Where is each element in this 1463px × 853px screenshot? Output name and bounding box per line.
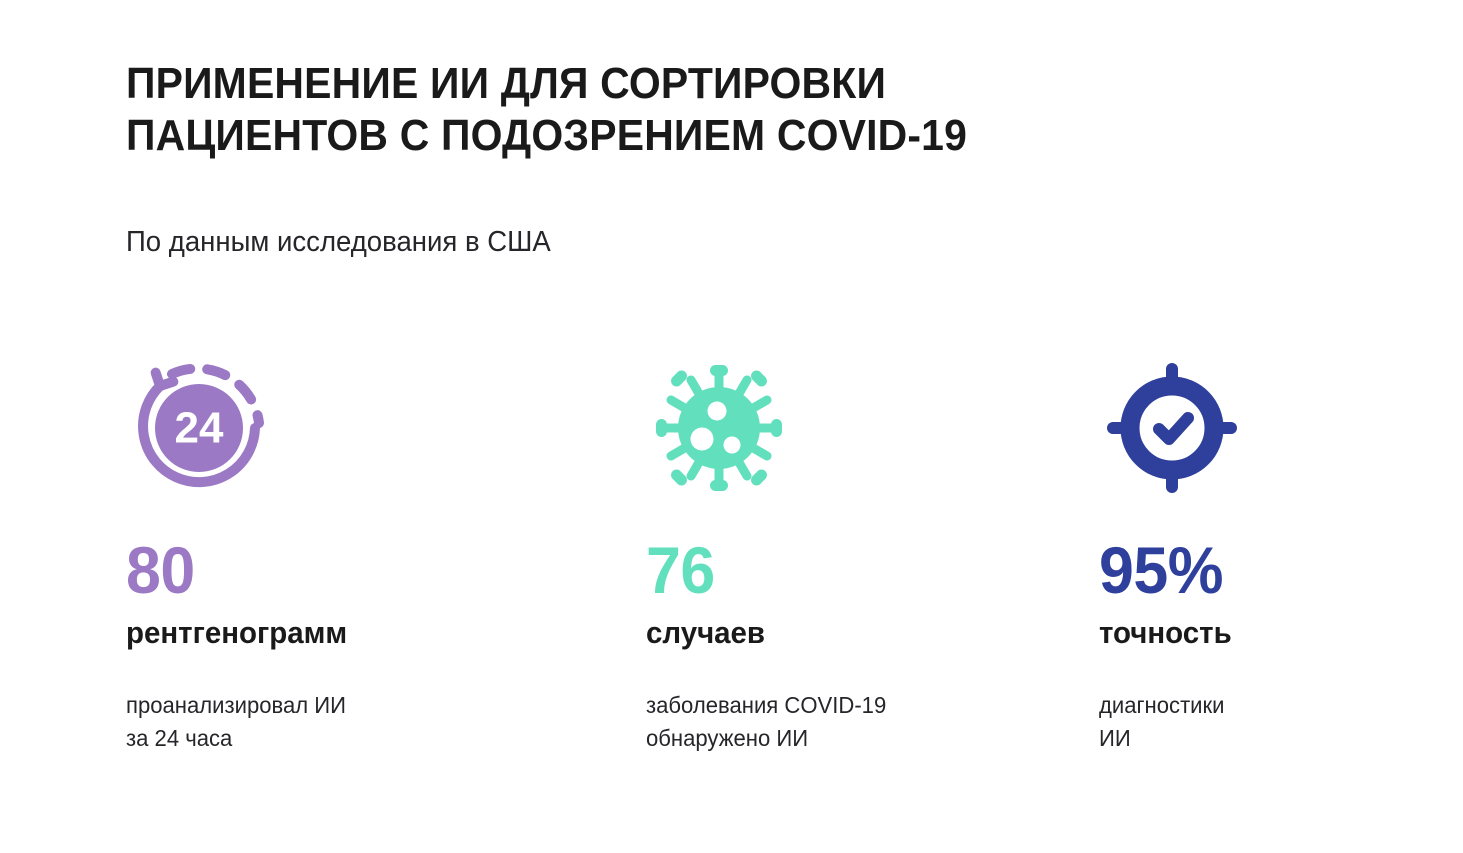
stats-row: 24 80 рентгенограмм проанализировал ИИ з…	[0, 355, 1463, 785]
page-subtitle: По данным исследования в США	[126, 224, 551, 260]
stat-caption: диагностики ИИ	[1099, 689, 1463, 755]
stat-card-cases: 76 случаев заболевания COVID-19 обнаруже…	[646, 355, 1066, 755]
stat-label: случаев	[646, 615, 1045, 651]
clock-24-hours-icon: 24	[126, 355, 546, 505]
stat-caption: заболевания COVID-19 обнаружено ИИ	[646, 689, 1049, 755]
target-check-icon	[1099, 355, 1463, 505]
infographic-canvas: ПРИМЕНЕНИЕ ИИ ДЛЯ СОРТИРОВКИ ПАЦИЕНТОВ С…	[0, 0, 1463, 853]
stat-card-accuracy: 95% точность диагностики ИИ	[1099, 355, 1463, 755]
stat-label: рентгенограмм	[126, 615, 525, 651]
stat-number: 76	[646, 537, 1045, 603]
page-title: ПРИМЕНЕНИЕ ИИ ДЛЯ СОРТИРОВКИ ПАЦИЕНТОВ С…	[126, 58, 1223, 162]
stat-caption: проанализировал ИИ за 24 часа	[126, 689, 529, 755]
virus-icon	[646, 355, 1066, 505]
stat-number: 80	[126, 537, 525, 603]
stat-card-radiographs: 24 80 рентгенограмм проанализировал ИИ з…	[126, 355, 546, 755]
stat-label: точность	[1099, 615, 1463, 651]
stat-number: 95%	[1099, 537, 1463, 603]
header: ПРИМЕНЕНИЕ ИИ ДЛЯ СОРТИРОВКИ ПАЦИЕНТОВ С…	[126, 58, 1306, 162]
clock-icon-label: 24	[175, 404, 224, 453]
